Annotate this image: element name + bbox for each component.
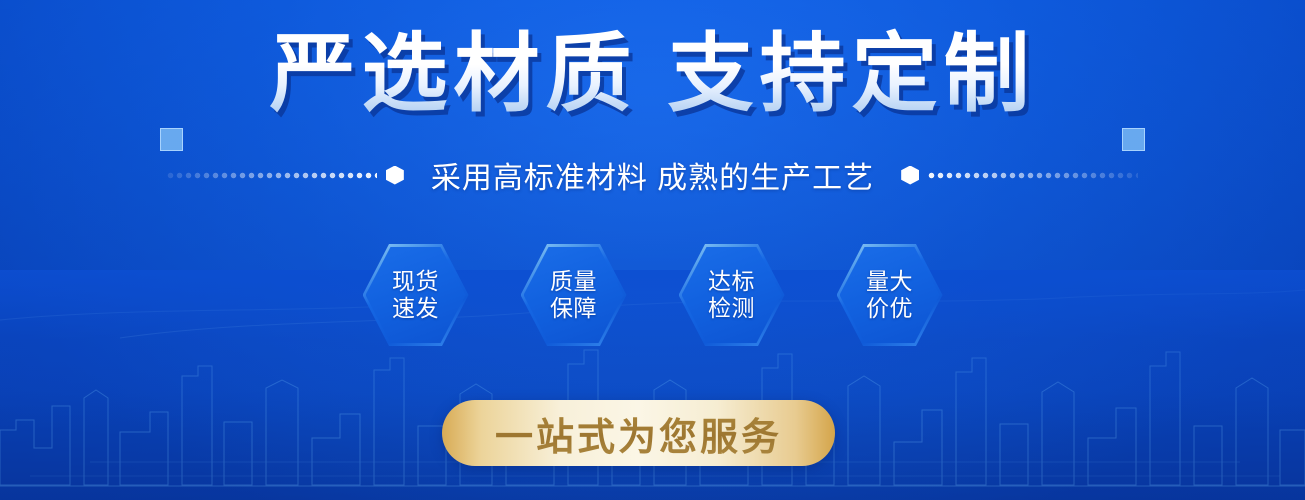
one-stop-service-label: 一站式为您服务 xyxy=(495,406,782,461)
feature-badge-line2: 速发 xyxy=(392,295,439,322)
dotted-line-right xyxy=(928,172,1138,179)
dotted-line-left xyxy=(167,172,377,179)
banner-headline: 严选材质 支持定制 xyxy=(0,26,1305,122)
feature-badge-label: 质量 保障 xyxy=(550,268,597,322)
feature-badge-line1: 量大 xyxy=(866,268,913,295)
hexagon-dot-right-icon xyxy=(901,166,919,185)
feature-badge-quality[interactable]: 质量 保障 xyxy=(521,244,627,346)
feature-badge-line2: 检测 xyxy=(708,295,755,322)
decorative-square-left xyxy=(160,128,183,151)
hexagon-dot-left-icon xyxy=(386,166,404,185)
promo-banner: 严选材质 支持定制 采用高标准材料 成熟的生产工艺 现货 速发 质量 保障 达标… xyxy=(0,0,1305,500)
decorative-square-right xyxy=(1122,128,1145,151)
feature-badge-line1: 现货 xyxy=(392,268,439,295)
feature-badge-line1: 达标 xyxy=(708,268,755,295)
feature-badge-label: 现货 速发 xyxy=(392,268,439,322)
one-stop-service-button[interactable]: 一站式为您服务 xyxy=(442,400,835,466)
feature-badge-line2: 保障 xyxy=(550,295,597,322)
feature-badge-testing[interactable]: 达标 检测 xyxy=(679,244,785,346)
banner-subtitle: 采用高标准材料 成熟的生产工艺 xyxy=(413,153,892,197)
feature-badge-label: 量大 价优 xyxy=(866,268,913,322)
feature-badge-label: 达标 检测 xyxy=(708,268,755,322)
feature-badge-stock[interactable]: 现货 速发 xyxy=(363,244,469,346)
feature-badge-row: 现货 速发 质量 保障 达标 检测 量大 价优 xyxy=(0,244,1305,346)
subtitle-row: 采用高标准材料 成熟的生产工艺 xyxy=(0,158,1305,192)
feature-badge-bulk-price[interactable]: 量大 价优 xyxy=(837,244,943,346)
feature-badge-line1: 质量 xyxy=(550,268,597,295)
feature-badge-line2: 价优 xyxy=(866,295,913,322)
